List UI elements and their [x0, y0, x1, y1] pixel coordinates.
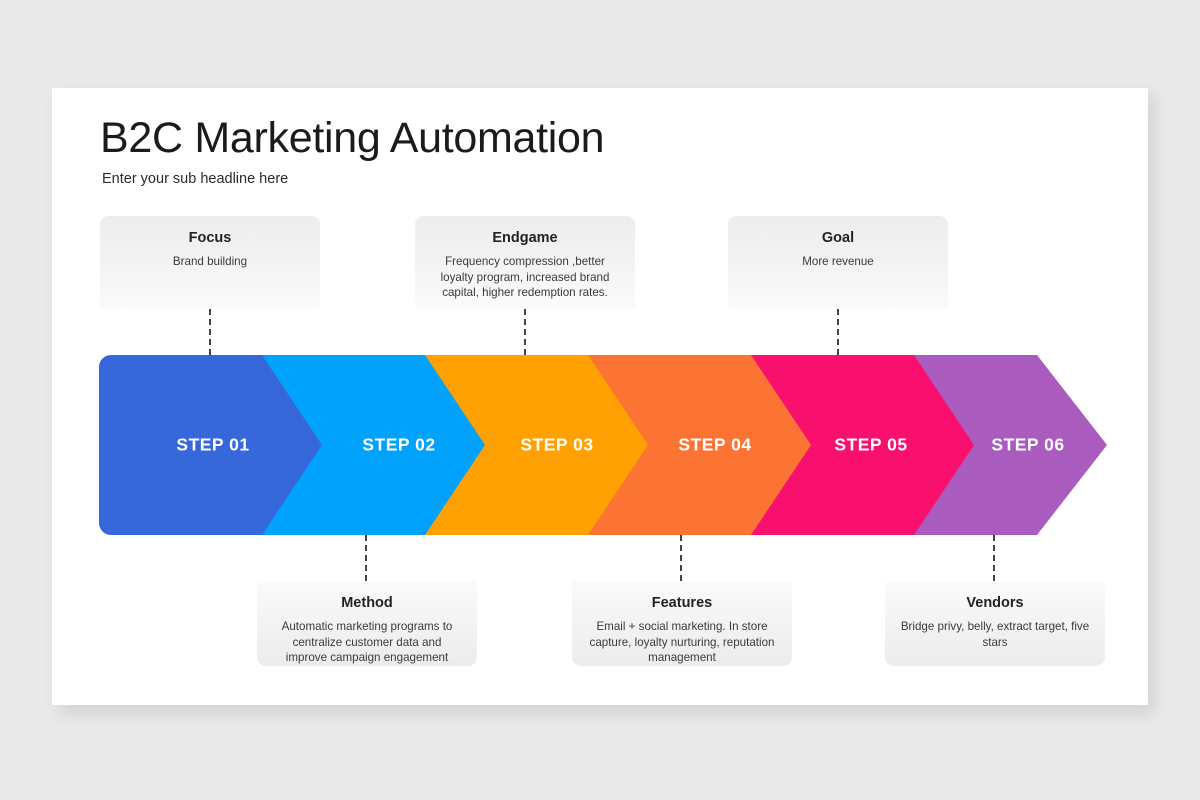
callout-title: Endgame — [429, 229, 621, 247]
callout-card-goal[interactable]: Goal More revenue — [728, 216, 948, 309]
connector-line-features — [680, 535, 682, 581]
slide-canvas: B2C Marketing Automation Enter your sub … — [52, 88, 1148, 705]
callout-text: Frequency compression ,better loyalty pr… — [429, 254, 621, 301]
callout-card-features[interactable]: Features Email + social marketing. In st… — [572, 581, 792, 666]
callout-text: Brand building — [114, 254, 306, 270]
callout-text: Email + social marketing. In store captu… — [586, 619, 778, 666]
callout-title: Method — [271, 594, 463, 612]
connector-line-endgame — [524, 309, 526, 355]
callout-card-endgame[interactable]: Endgame Frequency compression ,better lo… — [415, 216, 635, 309]
callout-card-focus[interactable]: Focus Brand building — [100, 216, 320, 309]
page-title: B2C Marketing Automation — [100, 114, 604, 163]
callout-title: Vendors — [899, 594, 1091, 612]
callout-text: More revenue — [742, 254, 934, 270]
callout-card-vendors[interactable]: Vendors Bridge privy, belly, extract tar… — [885, 581, 1105, 666]
connector-line-method — [365, 535, 367, 581]
connector-line-focus — [209, 309, 211, 355]
page-subtitle: Enter your sub headline here — [102, 171, 288, 187]
connector-line-goal — [837, 309, 839, 355]
callout-card-method[interactable]: Method Automatic marketing programs to c… — [257, 581, 477, 666]
callout-title: Goal — [742, 229, 934, 247]
callout-text: Bridge privy, belly, extract target, fiv… — [899, 619, 1091, 650]
process-chevron-band: STEP 01 STEP 02 STEP 03 STEP 04 STEP 05 … — [99, 355, 1109, 540]
callout-text: Automatic marketing programs to centrali… — [271, 619, 463, 666]
callout-title: Focus — [114, 229, 306, 247]
connector-line-vendors — [993, 535, 995, 581]
callout-title: Features — [586, 594, 778, 612]
